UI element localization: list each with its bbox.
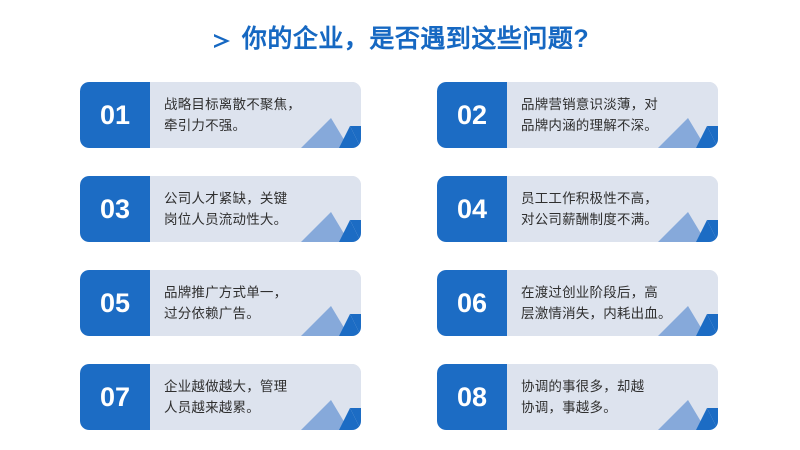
card-body: 品牌营销意识淡薄，对 品牌内涵的理解不深。 — [507, 82, 718, 148]
problem-card-05[interactable]: 05 品牌推广方式单一， 过分依赖广告。 — [80, 270, 361, 336]
card-number-badge: 06 — [437, 270, 507, 336]
card-text: 公司人才紧缺，关键 岗位人员流动性大。 — [164, 188, 287, 230]
card-text: 协调的事很多，却越 协调，事越多。 — [521, 376, 644, 418]
card-text: 企业越做越大，管理 人员越来越累。 — [164, 376, 287, 418]
problem-card-03[interactable]: 03 公司人才紧缺，关键 岗位人员流动性大。 — [80, 176, 361, 242]
card-number-badge: 03 — [80, 176, 150, 242]
card-text: 品牌营销意识淡薄，对 品牌内涵的理解不深。 — [521, 94, 658, 136]
card-body: 品牌推广方式单一， 过分依赖广告。 — [150, 270, 361, 336]
problem-card-06[interactable]: 06 在渡过创业阶段后，高 层激情消失，内耗出血。 — [437, 270, 718, 336]
card-body: 协调的事很多，却越 协调，事越多。 — [507, 364, 718, 430]
problem-card-01[interactable]: 01 战略目标离散不聚焦， 牵引力不强。 — [80, 82, 361, 148]
problem-card-02[interactable]: 02 品牌营销意识淡薄，对 品牌内涵的理解不深。 — [437, 82, 718, 148]
card-number-badge: 02 — [437, 82, 507, 148]
card-text: 员工工作积极性不高， 对公司薪酬制度不满。 — [521, 188, 658, 230]
problem-card-04[interactable]: 04 员工工作积极性不高， 对公司薪酬制度不满。 — [437, 176, 718, 242]
card-body: 员工工作积极性不高， 对公司薪酬制度不满。 — [507, 176, 718, 242]
corner-mountain-decoration-icon — [287, 296, 361, 336]
corner-mountain-decoration-icon — [287, 390, 361, 430]
card-number-badge: 08 — [437, 364, 507, 430]
corner-mountain-decoration-icon — [644, 390, 718, 430]
corner-mountain-decoration-icon — [287, 202, 361, 242]
card-number-badge: 05 — [80, 270, 150, 336]
card-body: 战略目标离散不聚焦， 牵引力不强。 — [150, 82, 361, 148]
page-title: 你的企业，是否遇到这些问题? — [0, 18, 800, 60]
card-text: 战略目标离散不聚焦， 牵引力不强。 — [164, 94, 301, 136]
card-number-badge: 01 — [80, 82, 150, 148]
card-body: 在渡过创业阶段后，高 层激情消失，内耗出血。 — [507, 270, 718, 336]
card-number-badge: 04 — [437, 176, 507, 242]
problem-card-07[interactable]: 07 企业越做越大，管理 人员越来越累。 — [80, 364, 361, 430]
triangle-right-icon — [211, 30, 233, 52]
card-text: 品牌推广方式单一， 过分依赖广告。 — [164, 282, 287, 324]
card-body: 公司人才紧缺，关键 岗位人员流动性大。 — [150, 176, 361, 242]
card-number-badge: 07 — [80, 364, 150, 430]
problem-card-08[interactable]: 08 协调的事很多，却越 协调，事越多。 — [437, 364, 718, 430]
card-body: 企业越做越大，管理 人员越来越累。 — [150, 364, 361, 430]
card-text: 在渡过创业阶段后，高 层激情消失，内耗出血。 — [521, 282, 672, 324]
page-title-text: 你的企业，是否遇到这些问题? — [242, 27, 589, 52]
problem-card-grid: 01 战略目标离散不聚焦， 牵引力不强。 02 品牌营销意识淡薄，对 品牌内涵的… — [80, 82, 720, 434]
